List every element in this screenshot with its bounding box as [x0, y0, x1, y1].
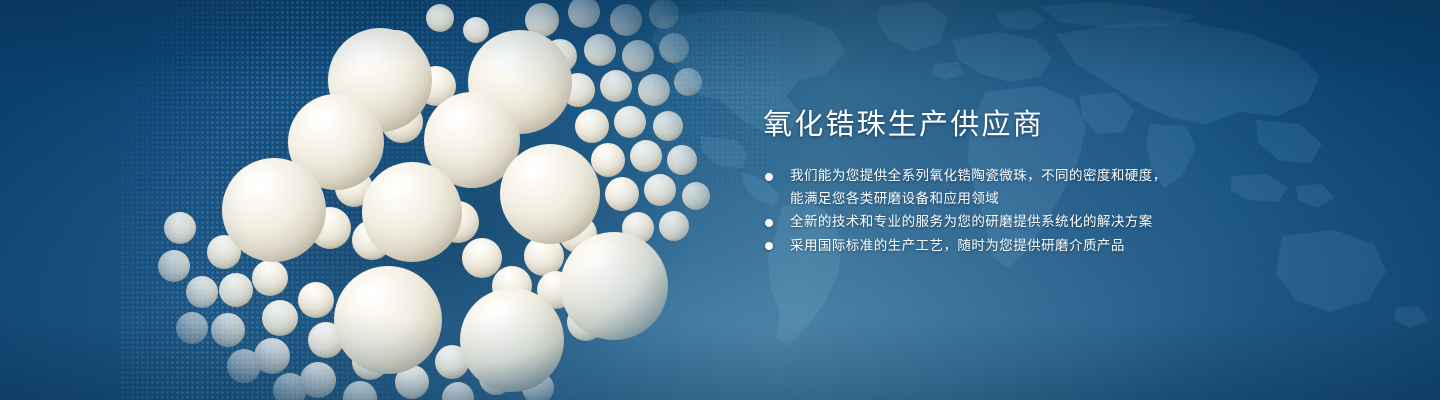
feature-list: 我们能为您提供全系列氧化锆陶瓷微珠，不同的密度和硬度， 能满足您各类研磨设备和应…: [763, 165, 1243, 257]
list-item: 采用国际标准的生产工艺，随时为您提供研磨介质产品: [763, 235, 1243, 258]
page-title: 氧化锆珠生产供应商: [763, 108, 1243, 142]
list-item-line: 采用国际标准的生产工艺，随时为您提供研磨介质产品: [790, 235, 1243, 258]
list-item-line: 全新的技术和专业的服务为您的研磨提供系统化的解决方案: [790, 211, 1243, 234]
list-item: 我们能为您提供全系列氧化锆陶瓷微珠，不同的密度和硬度， 能满足您各类研磨设备和应…: [763, 165, 1243, 210]
list-item: 全新的技术和专业的服务为您的研磨提供系统化的解决方案: [763, 211, 1243, 234]
list-item-line: 能满足您各类研磨设备和应用领域: [790, 188, 1243, 211]
hero-banner: 氧化锆珠生产供应商 我们能为您提供全系列氧化锆陶瓷微珠，不同的密度和硬度， 能满…: [0, 0, 1440, 400]
bullet-dot-icon: [765, 219, 773, 227]
zirconia-beads-photo: [140, 0, 760, 400]
list-item-line: 我们能为您提供全系列氧化锆陶瓷微珠，不同的密度和硬度，: [790, 165, 1243, 188]
bullet-dot-icon: [765, 242, 773, 250]
banner-copy: 氧化锆珠生产供应商 我们能为您提供全系列氧化锆陶瓷微珠，不同的密度和硬度， 能满…: [763, 108, 1243, 258]
bullet-dot-icon: [765, 173, 773, 181]
